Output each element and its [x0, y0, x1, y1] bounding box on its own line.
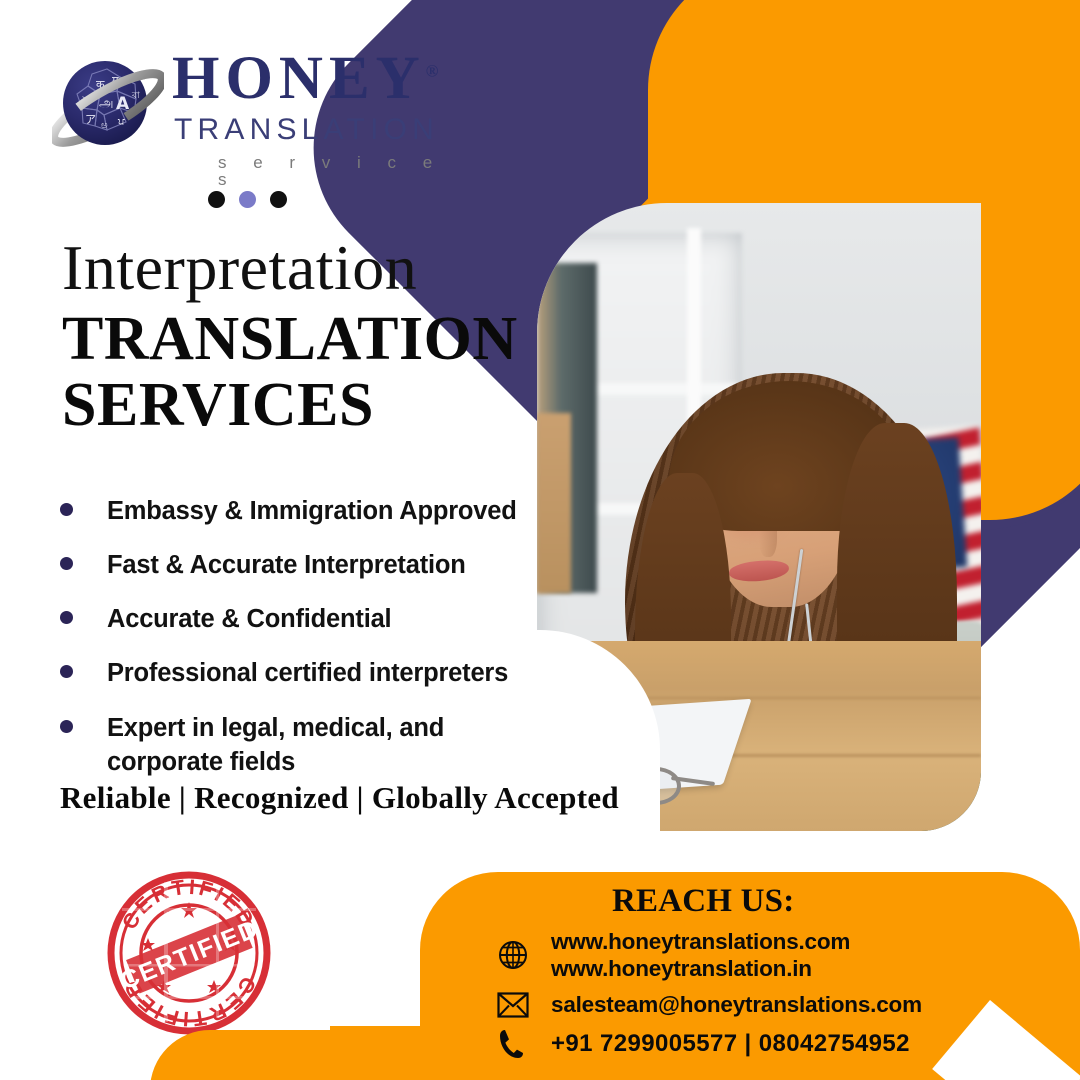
- bullet-marker-icon: [60, 720, 73, 733]
- feature-list: Embassy & Immigration Approved Fast & Ac…: [52, 494, 522, 799]
- headline-script: Interpretation: [62, 236, 417, 300]
- brand-logo[interactable]: क म ا বা ગુ அ A ア ಅ ਪ HONEY® TRANSLATION…: [52, 44, 472, 179]
- website-line-1[interactable]: www.honeytranslations.com: [551, 929, 850, 954]
- headline-line-2: SERVICES: [62, 372, 518, 438]
- svg-text:அ: அ: [99, 96, 113, 111]
- email-text[interactable]: salesteam@honeytranslations.com: [551, 991, 922, 1018]
- svg-text:ਪ: ਪ: [117, 117, 125, 128]
- phone-text[interactable]: +91 7299005577 | 08042754952: [551, 1029, 910, 1058]
- photo-books: [537, 413, 571, 593]
- dot-3: [270, 191, 287, 208]
- feature-text: Fast & Accurate Interpretation: [107, 548, 466, 582]
- website-line-2[interactable]: www.honeytranslation.in: [551, 956, 812, 981]
- logo-name-primary-text: HONEY: [172, 45, 426, 112]
- logo-wordmark: HONEY® TRANSLATION s e r v i c e s: [172, 44, 472, 188]
- dot-2: [239, 191, 256, 208]
- contact-row-website[interactable]: www.honeytranslations.com www.honeytrans…: [493, 928, 1073, 982]
- feature-text: Embassy & Immigration Approved: [107, 494, 517, 528]
- feature-text: Professional certified interpreters: [107, 656, 508, 690]
- globe-icon: क म ا বা ગુ அ A ア ಅ ਪ: [52, 50, 164, 162]
- registered-mark: ®: [426, 62, 439, 81]
- tagline: Reliable | Recognized | Globally Accepte…: [60, 780, 619, 816]
- svg-text:বা: বা: [131, 91, 140, 101]
- bullet-marker-icon: [60, 557, 73, 570]
- envelope-icon: [493, 992, 533, 1018]
- svg-text:ア: ア: [85, 113, 96, 126]
- list-item: Fast & Accurate Interpretation: [52, 548, 522, 582]
- list-item: Accurate & Confidential: [52, 602, 522, 636]
- contact-list: www.honeytranslations.com www.honeytrans…: [493, 928, 1073, 1069]
- svg-text:ಅ: ಅ: [101, 120, 108, 131]
- poster-canvas: क म ا বা ગુ அ A ア ಅ ਪ HONEY® TRANSLATION…: [0, 0, 1080, 1080]
- certified-stamp-icon: CERTIFIED CERTIFIED CERTIFIED: [104, 868, 274, 1038]
- dot-1: [208, 191, 225, 208]
- bullet-marker-icon: [60, 503, 73, 516]
- bullet-marker-icon: [60, 665, 73, 678]
- contact-row-email[interactable]: salesteam@honeytranslations.com: [493, 991, 1073, 1018]
- logo-name-secondary: TRANSLATION: [174, 115, 472, 145]
- headline-main: TRANSLATION SERVICES: [62, 306, 518, 439]
- bullet-marker-icon: [60, 611, 73, 624]
- phone-icon: [493, 1028, 533, 1060]
- logo-name-tertiary: s e r v i c e s: [218, 154, 472, 188]
- feature-text: Expert in legal, medical, and corporate …: [107, 711, 467, 779]
- logo-name-primary: HONEY®: [172, 44, 472, 109]
- website-lines: www.honeytranslations.com www.honeytrans…: [551, 928, 850, 982]
- contact-heading: REACH US:: [612, 883, 794, 920]
- headline-line-1: TRANSLATION: [62, 306, 518, 372]
- globe-web-icon: [493, 939, 533, 971]
- list-item: Expert in legal, medical, and corporate …: [52, 711, 522, 779]
- list-item: Embassy & Immigration Approved: [52, 494, 522, 528]
- decorative-dots: [208, 191, 287, 208]
- feature-text: Accurate & Confidential: [107, 602, 391, 636]
- list-item: Professional certified interpreters: [52, 656, 522, 690]
- contact-row-phone[interactable]: +91 7299005577 | 08042754952: [493, 1028, 1073, 1060]
